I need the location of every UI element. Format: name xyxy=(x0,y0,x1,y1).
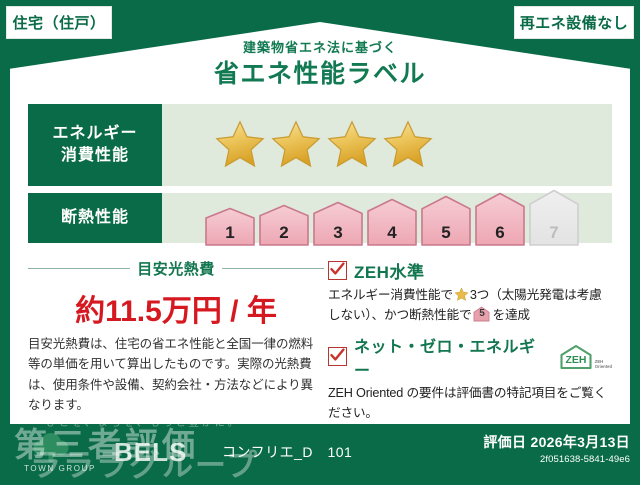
divider-line-left xyxy=(28,268,130,269)
insulation-level-5: 5 xyxy=(420,195,472,247)
divider-line-right xyxy=(222,268,324,269)
star-rating xyxy=(162,119,434,171)
inline-insulation-badge: 5 xyxy=(473,306,490,322)
cost-heading: 目安光熱費 xyxy=(28,258,324,279)
energy-performance-value xyxy=(162,104,612,186)
energy-performance-label: エネルギー 消費性能 xyxy=(28,104,162,186)
zeh-house-icon: ZEH xyxy=(559,344,593,370)
property-name: コンフリエ_D 101 xyxy=(222,442,352,462)
insulation-performance-label: 断熱性能 xyxy=(28,193,162,243)
zeh-level-title: ZEH水準 xyxy=(354,258,425,283)
insulation-level-label: 4 xyxy=(366,223,418,243)
star-icon xyxy=(270,119,322,171)
zeh-level-checkbox[interactable] xyxy=(328,261,347,280)
evaluation-date: 評価日 2026年3月13日 xyxy=(483,432,630,452)
zeh-oriented-sublabel: ZEH Oriented xyxy=(595,360,612,370)
zeh-sub-line2: Oriented xyxy=(595,364,612,369)
energy-label-line2: 消費性能 xyxy=(61,145,129,167)
inline-star-icon xyxy=(454,287,469,302)
insulation-level-label: 5 xyxy=(420,223,472,243)
cost-note: 目安光熱費は、住宅の省エネ性能と全国一律の燃料等の単価を用いて算出したものです。… xyxy=(28,334,324,415)
insulation-level-1: 1 xyxy=(204,207,256,247)
bels-logo-icon: BELS xyxy=(112,435,208,469)
evaluation-info: 評価日 2026年3月13日 2f051638-5841-49e6 xyxy=(483,432,630,465)
cost-value: 約11.5万円 / 年 xyxy=(28,286,324,330)
evaluation-id: 2f051638-5841-49e6 xyxy=(483,454,630,465)
svg-text:BELS: BELS xyxy=(114,437,187,467)
performance-rows: エネルギー 消費性能 断熱性能 1234567 xyxy=(28,104,612,250)
title-main: 省エネ性能ラベル xyxy=(0,59,640,89)
svg-text:ZEH: ZEH xyxy=(565,354,586,366)
town-group-text: TOWN GROUP xyxy=(5,464,115,473)
insulation-label-line1: 断熱性能 xyxy=(61,207,129,229)
energy-label-root: 住宅（住戸） 再エネ設備なし 建築物省エネ法に基づく 省エネ性能ラベル エネルギ… xyxy=(0,0,640,478)
insulation-performance-value: 1234567 xyxy=(162,193,612,243)
insulation-level-2: 2 xyxy=(258,204,310,247)
row-energy-performance: エネルギー 消費性能 xyxy=(28,104,612,186)
insulation-level-4: 4 xyxy=(366,198,418,247)
zeh-level-row: ZEH水準 xyxy=(328,258,612,283)
insulation-level-label: 7 xyxy=(528,223,580,243)
row-insulation-performance: 断熱性能 1234567 xyxy=(28,193,612,243)
zeh-note-part-a: エネルギー消費性能で xyxy=(328,288,453,302)
badge-renewable-equipment: 再エネ設備なし xyxy=(514,6,634,39)
insulation-level-3: 3 xyxy=(312,201,364,247)
net-zero-energy-row: ネット・ゼロ・エネルギー ZEH ZEH Oriented xyxy=(328,333,612,381)
zeh-level-note: エネルギー消費性能で3つ（太陽光発電は考慮しない）、かつ断熱性能で5を達成 xyxy=(328,285,612,326)
zeh-note-part-c: を達成 xyxy=(492,308,529,322)
tree-icon xyxy=(5,430,115,466)
cost-heading-text: 目安光熱費 xyxy=(137,258,215,279)
insulation-level-7: 7 xyxy=(528,189,580,247)
insulation-level-label: 6 xyxy=(474,223,526,243)
net-zero-energy-checkbox[interactable] xyxy=(328,347,347,366)
insulation-level-6: 6 xyxy=(474,192,526,247)
detail-panels: 目安光熱費 約11.5万円 / 年 目安光熱費は、住宅の省エネ性能と全国一律の燃… xyxy=(28,258,612,430)
insulation-level-label: 1 xyxy=(204,223,256,243)
cost-panel: 目安光熱費 約11.5万円 / 年 目安光熱費は、住宅の省エネ性能と全国一律の燃… xyxy=(28,258,324,430)
insulation-level-label: 3 xyxy=(312,223,364,243)
badge-building-type: 住宅（住戸） xyxy=(6,6,112,39)
evaluation-date-label: 評価日 xyxy=(483,434,526,450)
town-group-logo: TOWN GROUP xyxy=(5,430,115,474)
insulation-scale: 1234567 xyxy=(162,189,580,247)
star-icon xyxy=(326,119,378,171)
energy-label-line1: エネルギー xyxy=(52,123,137,145)
net-zero-energy-title: ネット・ゼロ・エネルギー xyxy=(354,333,550,381)
star-icon xyxy=(382,119,434,171)
label-title: 建築物省エネ法に基づく 省エネ性能ラベル xyxy=(0,40,640,89)
insulation-level-label: 2 xyxy=(258,223,310,243)
zeh-oriented-logo: ZEH ZEH Oriented xyxy=(559,344,612,370)
inline-insulation-badge-value: 5 xyxy=(473,306,490,322)
bels-logo: BELS xyxy=(112,435,208,474)
footer-bar: TOWN GROUP BELS コンフリエ_D 101 評価日 2026年3月1… xyxy=(0,424,640,478)
evaluation-date-value: 2026年3月13日 xyxy=(530,434,630,450)
star-icon xyxy=(214,119,266,171)
net-zero-energy-note: ZEH Oriented の要件は評価書の特記項目をご覧ください。 xyxy=(328,383,612,424)
title-subtitle: 建築物省エネ法に基づく xyxy=(0,40,640,56)
zeh-panel: ZEH水準 エネルギー消費性能で3つ（太陽光発電は考慮しない）、かつ断熱性能で5… xyxy=(324,258,612,430)
